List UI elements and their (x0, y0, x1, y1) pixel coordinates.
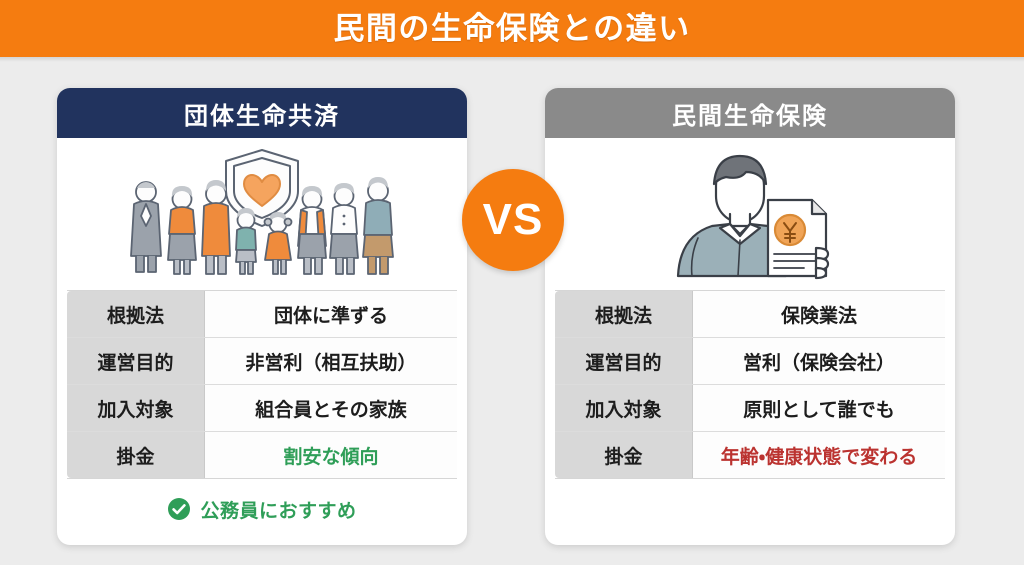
table-row: 加入対象 組合員とその家族 (67, 385, 457, 432)
check-circle-icon (167, 497, 191, 521)
card-header-private-life-insurance: 民間生命保険 (545, 88, 955, 138)
row-value-highlight: 割安な傾向 (205, 432, 457, 478)
vs-badge: VS (462, 169, 564, 271)
table-row: 掛金 割安な傾向 (67, 432, 457, 479)
comparison-table-private-life-insurance: 根拠法 保険業法 運営目的 営利（保険会社） 加入対象 原則として誰でも 掛金 … (555, 290, 945, 479)
table-row: 加入対象 原則として誰でも (555, 385, 945, 432)
row-label: 掛金 (555, 432, 693, 478)
comparison-infographic: 民間の生命保険との違い 団体生命共済 (0, 0, 1024, 565)
table-row: 掛金 年齢・健康状態で変わる (555, 432, 945, 479)
row-label: 加入対象 (555, 385, 693, 431)
title-band-shadow (0, 57, 1024, 62)
row-label: 運営目的 (67, 338, 205, 384)
card-header-label: 団体生命共済 (184, 96, 340, 131)
row-label: 根拠法 (67, 291, 205, 337)
row-label: 加入対象 (67, 385, 205, 431)
row-label: 運営目的 (555, 338, 693, 384)
card-footer-empty (545, 479, 955, 539)
recommendation-badge-label: 公務員におすすめ (200, 496, 356, 523)
row-label: 掛金 (67, 432, 205, 478)
page-title: 民間の生命保険との違い (333, 13, 690, 44)
table-row: 運営目的 営利（保険会社） (555, 338, 945, 385)
vs-badge-label: VS (483, 198, 544, 242)
recommendation-badge: 公務員におすすめ (57, 479, 467, 539)
row-label: 根拠法 (555, 291, 693, 337)
row-value-highlight: 年齢・健康状態で変わる (693, 432, 945, 478)
row-value: 非営利（相互扶助） (205, 338, 457, 384)
row-value: 団体に準ずる (205, 291, 457, 337)
card-header-group-life-mutual-aid: 団体生命共済 (57, 88, 467, 138)
card-header-label: 民間生命保険 (672, 96, 828, 131)
comparison-card-private-life-insurance: 民間生命保険 (545, 88, 955, 545)
insurance-salesperson-holding-contract-illustration (545, 138, 955, 290)
page-title-band: 民間の生命保険との違い (0, 0, 1024, 57)
table-row: 運営目的 非営利（相互扶助） (67, 338, 457, 385)
row-value: 組合員とその家族 (205, 385, 457, 431)
table-row: 根拠法 団体に準ずる (67, 291, 457, 338)
row-value: 営利（保険会社） (693, 338, 945, 384)
row-value: 原則として誰でも (693, 385, 945, 431)
comparison-card-group-life-mutual-aid: 団体生命共済 (57, 88, 467, 545)
family-group-with-shield-heart-illustration (57, 138, 467, 290)
comparison-table-group-life-mutual-aid: 根拠法 団体に準ずる 運営目的 非営利（相互扶助） 加入対象 組合員とその家族 … (67, 290, 457, 479)
table-row: 根拠法 保険業法 (555, 291, 945, 338)
row-value: 保険業法 (693, 291, 945, 337)
